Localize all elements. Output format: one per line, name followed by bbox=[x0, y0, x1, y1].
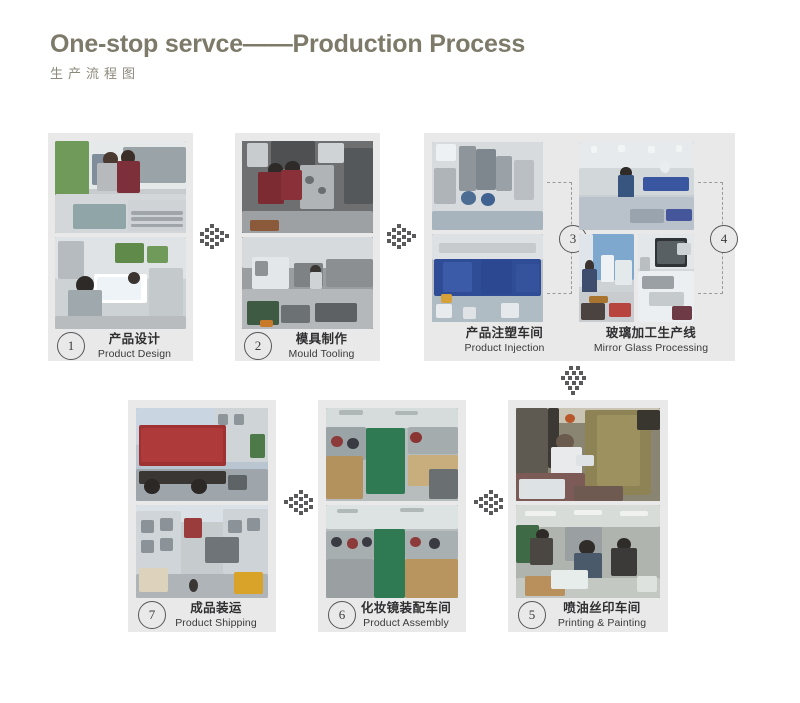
step-label-en-7: Product Shipping bbox=[166, 617, 266, 629]
photo-blue-injection-moulding-machines bbox=[432, 234, 543, 322]
step-card-7[interactable]: 7 成品装运 Product Shipping bbox=[128, 400, 276, 632]
step-card-5[interactable]: 5 喷油丝印车间 Printing & Painting bbox=[508, 400, 668, 632]
page-heading: One-stop servce——Production Process 生产流程… bbox=[50, 30, 650, 82]
step-label-en-2: Mould Tooling bbox=[272, 348, 371, 360]
step-label-en-1: Product Design bbox=[85, 348, 184, 360]
caption-step-4: 玻璃加工生产线 Mirror Glass Processing bbox=[576, 325, 726, 355]
caption-step-3: 产品注塑车间 Product Injection bbox=[432, 325, 577, 355]
arrow-6-to-7 bbox=[283, 488, 313, 516]
step-card-1[interactable]: 1 产品设计 Product Design bbox=[48, 133, 193, 361]
arrow-1-to-2 bbox=[200, 222, 230, 250]
caption-step-1: 1 产品设计 Product Design bbox=[55, 333, 186, 359]
arrow-4-to-5 bbox=[559, 366, 587, 396]
photo-assembly-workers-at-benches bbox=[326, 505, 458, 598]
step-number-5: 5 bbox=[518, 601, 546, 629]
photo-red-shipping-container-truck bbox=[136, 408, 268, 501]
page-subtitle: 生产流程图 bbox=[50, 63, 650, 82]
photo-spray-painting-booth-operator bbox=[516, 408, 660, 501]
photo-office-workspace-with-computers bbox=[55, 237, 186, 329]
step-label-cn-3: 产品注塑车间 bbox=[432, 326, 577, 341]
step-number-2: 2 bbox=[244, 332, 272, 360]
photo-glass-cutting-machine bbox=[638, 234, 694, 322]
step-number-4: 4 bbox=[710, 225, 738, 253]
step-label-en-6: Product Assembly bbox=[356, 617, 456, 629]
step-label-cn-7: 成品装运 bbox=[166, 601, 266, 616]
step-number-7: 7 bbox=[138, 601, 166, 629]
step-label-cn-4: 玻璃加工生产线 bbox=[576, 326, 726, 341]
arrow-2-to-3 bbox=[387, 222, 417, 250]
caption-step-2: 2 模具制作 Mould Tooling bbox=[242, 333, 373, 359]
step-number-1: 1 bbox=[57, 332, 85, 360]
photo-plastic-resin-feeding-equipment bbox=[432, 142, 543, 230]
step-number-6: 6 bbox=[328, 601, 356, 629]
caption-step-5: 5 喷油丝印车间 Printing & Painting bbox=[516, 602, 660, 628]
step-label-en-3: Product Injection bbox=[432, 342, 577, 354]
step-label-cn-5: 喷油丝印车间 bbox=[546, 601, 658, 616]
page-title: One-stop servce——Production Process bbox=[50, 30, 650, 59]
photo-silk-screen-printing-workshop bbox=[516, 505, 660, 598]
step-card-6[interactable]: 6 化妆镜装配车间 Product Assembly bbox=[318, 400, 466, 632]
photo-assembly-line-green-floor-overview bbox=[326, 408, 458, 501]
photo-mirror-glass-production-line bbox=[579, 142, 694, 230]
photo-engineers-inspecting-product-at-bench bbox=[55, 141, 186, 233]
step-label-cn-1: 产品设计 bbox=[85, 332, 184, 347]
photo-workers-machining-steel-mould bbox=[242, 141, 373, 233]
photo-forklift-loading-dock bbox=[136, 505, 268, 598]
step-card-2[interactable]: 2 模具制作 Mould Tooling bbox=[235, 133, 380, 361]
photo-cnc-machine-shop-floor bbox=[242, 237, 373, 329]
arrow-5-to-6 bbox=[473, 488, 503, 516]
step-card-3-and-4[interactable]: 3 产品注塑车间 Product Injection bbox=[424, 133, 735, 361]
step-label-en-4: Mirror Glass Processing bbox=[576, 342, 726, 354]
caption-step-6: 6 化妆镜装配车间 Product Assembly bbox=[326, 602, 458, 628]
step-label-en-5: Printing & Painting bbox=[546, 617, 658, 629]
step-label-cn-6: 化妆镜装配车间 bbox=[356, 601, 456, 616]
caption-step-7: 7 成品装运 Product Shipping bbox=[136, 602, 268, 628]
photo-glass-inspection-station bbox=[579, 234, 634, 322]
step-label-cn-2: 模具制作 bbox=[272, 332, 371, 347]
